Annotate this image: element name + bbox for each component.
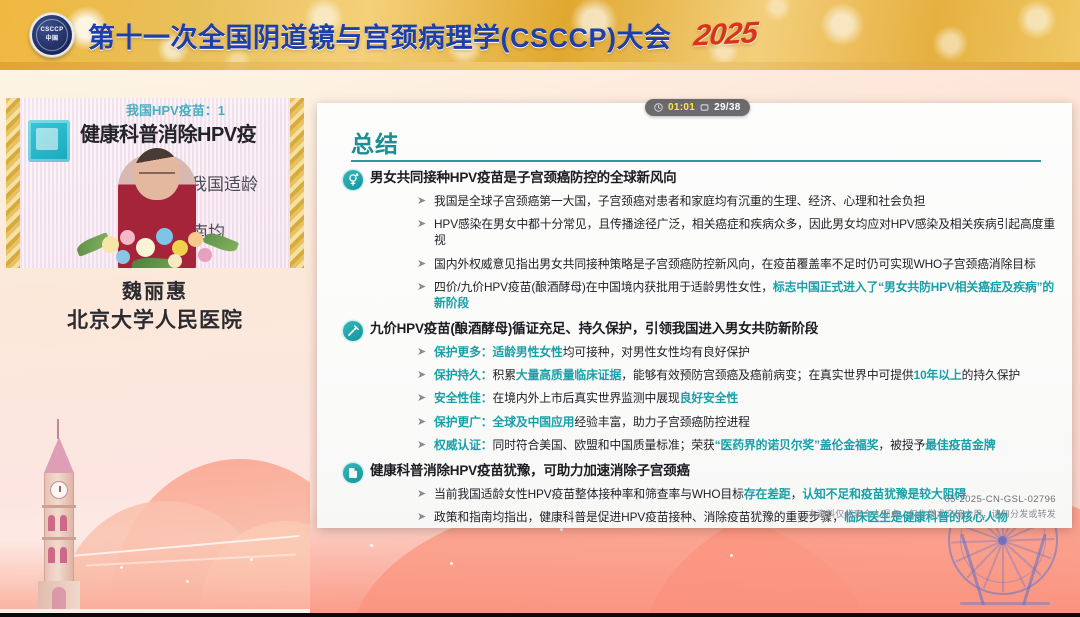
- page-indicator: 29/38: [714, 102, 741, 113]
- tower-archway: [52, 587, 66, 609]
- bullet-text: 保护更多：适龄男性女性均可接种，对男性女性均有良好保护: [434, 345, 750, 361]
- projected-slide-title: 健康科普消除HPV疫: [80, 118, 256, 147]
- flower: [116, 250, 130, 264]
- clock-tower-illustration-icon: [0, 394, 310, 609]
- tower-spire: [57, 419, 59, 439]
- bullet-text: 保护持久：积累大量高质量临床证据，能够有效预防宫颈癌及癌前病变；在真实世界中可提…: [434, 368, 1020, 384]
- flower: [156, 228, 173, 245]
- bullet-item: ➤ 安全性佳：在境内外上市后真实世界监测中展现良好安全性: [333, 391, 1063, 407]
- section-heading: 九价HPV疫苗(酿酒酵母)循证充足、持久保护，引领我国进入男女共防新阶段: [370, 320, 818, 338]
- tower-window: [48, 515, 55, 531]
- header-content: CSCCP 中国 第十一次全国阴道镜与宫颈病理学(CSCCP)大会 2025: [30, 0, 756, 70]
- section-bullets: ➤ 我国是全球子宫颈癌第一大国，子宫颈癌对患者和家庭均有沉重的生理、经济、心理和…: [333, 194, 1063, 312]
- tower-window: [60, 547, 67, 563]
- logo-text-top: CSCCP: [40, 26, 63, 35]
- slide-page-icon: [700, 103, 709, 112]
- arrow-bullet-icon: ➤: [417, 347, 426, 359]
- projected-slide-icon: [28, 120, 70, 162]
- podium-flower-arrangement: [72, 222, 242, 268]
- arrow-bullet-icon: ➤: [417, 196, 426, 208]
- section-header: 九价HPV疫苗(酿酒酵母)循证充足、持久保护，引领我国进入男女共防新阶段: [333, 320, 1063, 341]
- bullet-text: 权威认证：同时符合美国、欧盟和中国质量标准；荣获“医药界的诺贝尔奖”盖伦金福奖，…: [434, 438, 995, 454]
- arrow-bullet-icon: ➤: [417, 489, 426, 501]
- conference-title: 第十一次全国阴道镜与宫颈病理学(CSCCP)大会: [88, 16, 672, 55]
- bullet-item: ➤ HPV感染在男女中都十分常见，且传播途径广泛，相关癌症和疾病众多，因此男女均…: [333, 217, 1063, 249]
- bullet-item: ➤ 权威认证：同时符合美国、欧盟和中国质量标准；荣获“医药界的诺贝尔奖”盖伦金福…: [333, 438, 1063, 454]
- logo-text: CSCCP 中国: [32, 15, 72, 55]
- stage-gold-trim: [290, 98, 304, 268]
- csccp-round-logo-icon: CSCCP 中国: [30, 13, 74, 57]
- arrow-bullet-icon: ➤: [417, 393, 426, 405]
- sparkle: [186, 580, 189, 583]
- section-heading: 健康科普消除HPV疫苗犹豫，可助力加速消除子宫颈癌: [370, 462, 690, 480]
- bullet-item: ➤ 保护持久：积累大量高质量临床证据，能够有效预防宫颈癌及癌前病变；在真实世界中…: [333, 368, 1063, 384]
- bullet-text: 国内外权威意见指出男女共同接种策略是子宫颈癌防控新风向，在疫苗覆盖率不足时仍可实…: [434, 257, 1036, 273]
- tower-band: [42, 505, 76, 508]
- presentation-slide[interactable]: 总结 男女共同接种HPV疫苗是子宫颈癌防控的全球新风向: [317, 103, 1072, 528]
- tower-window: [60, 515, 67, 531]
- clock-tower: [38, 419, 80, 609]
- section-header: 健康科普消除HPV疫苗犹豫，可助力加速消除子宫颈癌: [333, 462, 1063, 483]
- stage-gold-trim: [6, 98, 20, 268]
- slide-title: 总结: [351, 125, 399, 159]
- flower: [188, 232, 203, 247]
- ferris-hub: [998, 536, 1007, 545]
- bullet-text: 安全性佳：在境内外上市后真实世界监测中展现良好安全性: [434, 391, 738, 407]
- flower: [102, 236, 119, 253]
- book-icon: [343, 463, 363, 483]
- section-bullets: ➤ 保护更多：适龄男性女性均可接种，对男性女性均有良好保护 ➤ 保护持久：积累大…: [333, 345, 1063, 455]
- flower: [198, 248, 212, 262]
- gender-symbols-icon: [343, 170, 363, 190]
- slide-title-divider: [351, 160, 1041, 162]
- arrow-bullet-icon: ➤: [417, 259, 426, 271]
- arrow-bullet-icon: ➤: [417, 440, 426, 452]
- slide-section: 九价HPV疫苗(酿酒酵母)循证充足、持久保护，引领我国进入男女共防新阶段 ➤ 保…: [333, 320, 1063, 455]
- tower-clock-face-icon: [50, 481, 68, 499]
- tower-window: [48, 547, 55, 563]
- conference-year: 2025: [691, 16, 758, 53]
- flower: [120, 230, 135, 245]
- section-header: 男女共同接种HPV疫苗是子宫颈癌防控的全球新风向: [333, 169, 1063, 190]
- sparkle: [370, 544, 373, 547]
- syringe-icon: [343, 321, 363, 341]
- arrow-bullet-icon: ➤: [417, 370, 426, 382]
- bullet-item: ➤ 四价/九价HPV疫苗(酿酒酵母)在中国境内获批用于适龄男性女性，标志中国正式…: [333, 280, 1063, 312]
- slide-content: 男女共同接种HPV疫苗是子宫颈癌防控的全球新风向 ➤ 我国是全球子宫颈癌第一大国…: [333, 169, 1063, 528]
- bullet-text: HPV感染在男女中都十分常见，且传播途径广泛，相关癌症和疾病众多，因此男女均应对…: [434, 217, 1063, 249]
- slide-material-code: 05-2025-CN-GSL-02796: [808, 493, 1056, 507]
- bullet-item: ➤ 国内外权威意见指出男女共同接种策略是子宫颈癌防控新风向，在疫苗覆盖率不足时仍…: [333, 257, 1063, 273]
- slide-footer: 05-2025-CN-GSL-02796 本资料仅代表个人观点，仅作学术交流之用…: [808, 493, 1056, 521]
- flower: [168, 254, 182, 268]
- tower-band: [42, 537, 76, 540]
- sparkle: [560, 528, 563, 531]
- speaker-affiliation: 北京大学人民医院: [0, 304, 310, 334]
- video-player-stage: CSCCP 中国 第十一次全国阴道镜与宫颈病理学(CSCCP)大会 2025: [0, 0, 1080, 617]
- bullet-text: 我国是全球子宫颈癌第一大国，子宫颈癌对患者和家庭均有沉重的生理、经济、心理和社会…: [434, 194, 925, 210]
- speaker-video-feed[interactable]: 我国HPV疫苗：1 健康科普消除HPV疫 当前我国适龄 指南均: [6, 98, 304, 268]
- sparkle: [450, 562, 453, 565]
- sparkle: [730, 554, 733, 557]
- conference-header-banner: CSCCP 中国 第十一次全国阴道镜与宫颈病理学(CSCCP)大会 2025: [0, 0, 1080, 70]
- sparkle: [120, 566, 123, 569]
- bullet-text: 保护更广：全球及中国应用经验丰富，助力子宫颈癌防控进程: [434, 415, 750, 431]
- sparkle: [250, 558, 253, 561]
- tower-roof: [44, 437, 74, 473]
- arrow-bullet-icon: ➤: [417, 282, 426, 294]
- playback-progress-badge[interactable]: 01:01 29/38: [645, 99, 750, 116]
- speaker-glasses: [139, 172, 175, 179]
- bullet-item: ➤ 我国是全球子宫颈癌第一大国，子宫颈癌对患者和家庭均有沉重的生理、经济、心理和…: [333, 194, 1063, 210]
- elapsed-time: 01:01: [668, 102, 695, 113]
- arrow-bullet-icon: ➤: [417, 219, 426, 231]
- frame-bottom-bar: [0, 613, 1080, 617]
- speaker-panel: 我国HPV疫苗：1 健康科普消除HPV疫 当前我国适龄 指南均: [0, 70, 310, 617]
- clock-icon: [654, 103, 663, 112]
- logo-text-bottom: 中国: [46, 35, 59, 44]
- section-heading: 男女共同接种HPV疫苗是子宫颈癌防控的全球新风向: [370, 169, 676, 187]
- flower: [136, 238, 155, 257]
- arrow-bullet-icon: ➤: [417, 417, 426, 429]
- slide-section: 男女共同接种HPV疫苗是子宫颈癌防控的全球新风向 ➤ 我国是全球子宫颈癌第一大国…: [333, 169, 1063, 312]
- slide-disclaimer: 本资料仅代表个人观点，仅作学术交流之用，请勿分发或转发: [808, 508, 1056, 522]
- ferris-base: [960, 602, 1050, 605]
- bullet-item: ➤ 保护更广：全球及中国应用经验丰富，助力子宫颈癌防控进程: [333, 415, 1063, 431]
- speaker-name: 魏丽惠: [0, 275, 310, 304]
- arrow-bullet-icon: ➤: [417, 512, 426, 524]
- projected-slide-line-top: 我国HPV疫苗：1: [126, 100, 225, 119]
- bullet-item: ➤ 保护更多：适龄男性女性均可接种，对男性女性均有良好保护: [333, 345, 1063, 361]
- bullet-text: 四价/九价HPV疫苗(酿酒酵母)在中国境内获批用于适龄男性女性，标志中国正式进入…: [434, 280, 1063, 312]
